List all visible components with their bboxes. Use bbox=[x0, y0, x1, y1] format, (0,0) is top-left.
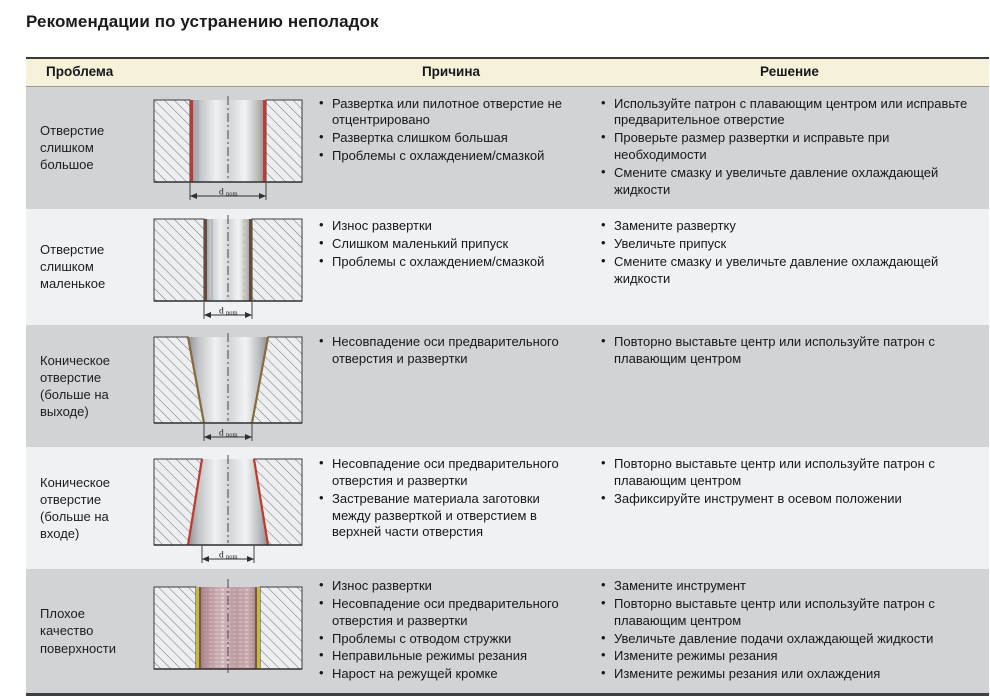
list-item: Измените режимы резания bbox=[600, 648, 981, 665]
page-title: Рекомендации по устранению неполадок bbox=[26, 12, 379, 32]
list-item: Измените режимы резания или охлаждения bbox=[600, 666, 981, 683]
solution-cell-list: Повторно выставьте центр или используйте… bbox=[600, 456, 981, 508]
list-item: Износ развертки bbox=[318, 578, 582, 595]
solution-cell-list: Замените инструментПовторно выставьте це… bbox=[600, 578, 981, 683]
list-item: Застревание материала заготовки между ра… bbox=[318, 491, 582, 542]
solution-cell: Замените разверткуУвеличьте припускСмени… bbox=[590, 209, 989, 325]
header-cause: Причина bbox=[312, 58, 590, 86]
list-item: Проверьте размер развертки и исправьте п… bbox=[600, 130, 981, 164]
list-item: Смените смазку и увеличьте давление охла… bbox=[600, 254, 981, 288]
table-row: Отверстие слишком большое bbox=[26, 86, 989, 209]
table-row: Отверстие слишком маленькое bbox=[26, 209, 989, 325]
troubleshooting-table: Проблема Причина Решение Отверстие слишк… bbox=[26, 57, 989, 696]
problem-cell: Отверстие слишком большое bbox=[26, 86, 136, 209]
table-row: Коническое отверстие (больше на входе) bbox=[26, 447, 989, 569]
header-solution: Решение bbox=[590, 58, 989, 86]
svg-text:d: d bbox=[219, 428, 224, 438]
solution-cell-list: Замените разверткуУвеличьте припускСмени… bbox=[600, 218, 981, 288]
list-item: Нарост на режущей кромке bbox=[318, 666, 582, 683]
list-item: Смените смазку и увеличьте давление охла… bbox=[600, 165, 981, 199]
list-item: Проблемы с охлаждением/смазкой bbox=[318, 148, 582, 165]
problem-cell: Коническое отверстие (больше на входе) bbox=[26, 447, 136, 569]
svg-text:d: d bbox=[219, 550, 224, 560]
list-item: Повторно выставьте центр или используйте… bbox=[600, 334, 981, 368]
svg-text:nom: nom bbox=[226, 431, 238, 438]
tapered-entry-diagram: d nom bbox=[136, 447, 312, 569]
list-item: Замените развертку bbox=[600, 218, 981, 235]
hole-oversize-diagram: d nom bbox=[136, 86, 312, 209]
cause-cell-list: Износ разверткиНесовпадение оси предвари… bbox=[318, 578, 582, 683]
table-row: Коническое отверстие (больше на выходе) bbox=[26, 325, 989, 447]
cause-cell-list: Развертка или пилотное отверстие не отце… bbox=[318, 96, 582, 166]
list-item: Замените инструмент bbox=[600, 578, 981, 595]
list-item: Неправильные режимы резания bbox=[318, 648, 582, 665]
solution-cell: Повторно выставьте центр или используйте… bbox=[590, 325, 989, 447]
header-problem: Проблема bbox=[26, 58, 312, 86]
svg-text:d: d bbox=[219, 187, 224, 197]
list-item: Проблемы с отводом стружки bbox=[318, 631, 582, 648]
problem-cell: Плохое качество поверхности bbox=[26, 569, 136, 695]
solution-cell-list: Повторно выставьте центр или используйте… bbox=[600, 334, 981, 368]
tapered-exit-diagram: d nom bbox=[136, 325, 312, 447]
list-item: Слишком маленький припуск bbox=[318, 236, 582, 253]
problem-cell: Отверстие слишком маленькое bbox=[26, 209, 136, 325]
list-item: Используйте патрон с плавающим центром и… bbox=[600, 96, 981, 130]
list-item: Увеличьте припуск bbox=[600, 236, 981, 253]
table-body: Отверстие слишком большое bbox=[26, 86, 989, 695]
list-item: Несовпадение оси предварительного отверс… bbox=[318, 334, 582, 368]
cause-cell: Несовпадение оси предварительного отверс… bbox=[312, 325, 590, 447]
rough-bore-diagram bbox=[136, 569, 312, 695]
list-item: Повторно выставьте центр или используйте… bbox=[600, 596, 981, 630]
cause-cell-list: Несовпадение оси предварительного отверс… bbox=[318, 334, 582, 368]
list-item: Развертка или пилотное отверстие не отце… bbox=[318, 96, 582, 130]
header-row: Проблема Причина Решение bbox=[26, 58, 989, 86]
list-item: Зафиксируйте инструмент в осевом положен… bbox=[600, 491, 981, 508]
svg-text:nom: nom bbox=[226, 309, 238, 316]
list-item: Износ развертки bbox=[318, 218, 582, 235]
cause-cell-list: Износ разверткиСлишком маленький припуск… bbox=[318, 218, 582, 271]
troubleshooting-table-wrapper: Проблема Причина Решение Отверстие слишк… bbox=[26, 57, 989, 696]
solution-cell: Используйте патрон с плавающим центром и… bbox=[590, 86, 989, 209]
hole-undersize-diagram: d nom bbox=[136, 209, 312, 325]
problem-cell: Коническое отверстие (больше на выходе) bbox=[26, 325, 136, 447]
svg-text:d: d bbox=[219, 306, 224, 316]
page-root: Рекомендации по устранению неполадок Про… bbox=[0, 0, 990, 697]
table-row: Плохое качество поверхности bbox=[26, 569, 989, 695]
solution-cell: Повторно выставьте центр или используйте… bbox=[590, 447, 989, 569]
list-item: Проблемы с охлаждением/смазкой bbox=[318, 254, 582, 271]
list-item: Повторно выставьте центр или используйте… bbox=[600, 456, 981, 490]
svg-text:nom: nom bbox=[226, 553, 238, 560]
svg-text:nom: nom bbox=[226, 190, 238, 197]
cause-cell-list: Несовпадение оси предварительного отверс… bbox=[318, 456, 582, 541]
cause-cell: Износ разверткиСлишком маленький припуск… bbox=[312, 209, 590, 325]
solution-cell-list: Используйте патрон с плавающим центром и… bbox=[600, 96, 981, 199]
cause-cell: Несовпадение оси предварительного отверс… bbox=[312, 447, 590, 569]
list-item: Несовпадение оси предварительного отверс… bbox=[318, 596, 582, 630]
cause-cell: Износ разверткиНесовпадение оси предвари… bbox=[312, 569, 590, 695]
solution-cell: Замените инструментПовторно выставьте це… bbox=[590, 569, 989, 695]
list-item: Развертка слишком большая bbox=[318, 130, 582, 147]
list-item: Несовпадение оси предварительного отверс… bbox=[318, 456, 582, 490]
list-item: Увеличьте давление подачи охлаждающей жи… bbox=[600, 631, 981, 648]
cause-cell: Развертка или пилотное отверстие не отце… bbox=[312, 86, 590, 209]
table-header: Проблема Причина Решение bbox=[26, 58, 989, 86]
